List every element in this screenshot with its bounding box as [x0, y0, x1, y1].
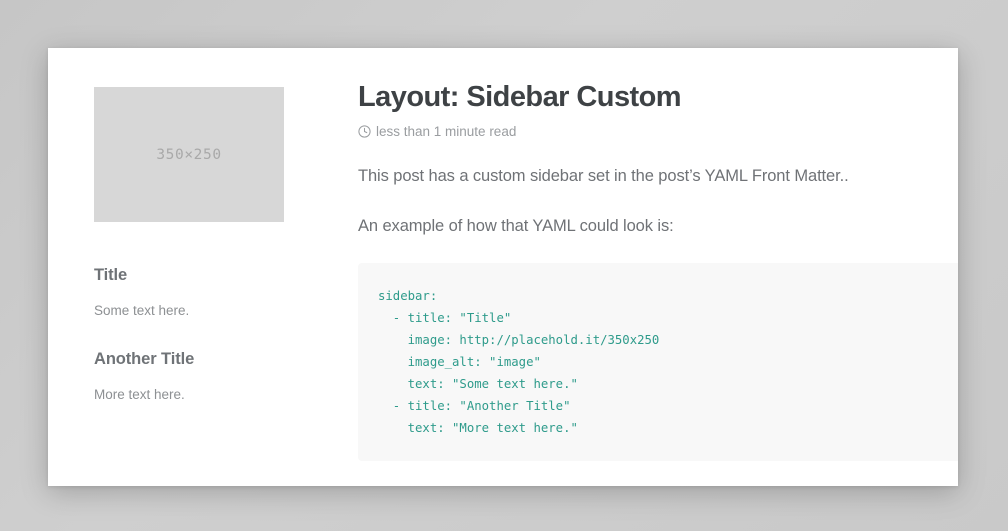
clock-icon [358, 125, 371, 138]
card-inner-layout: 350×250 Title Some text here. Another Ti… [48, 48, 958, 486]
sidebar-section-title: Title Some text here. [94, 266, 358, 321]
yaml-code-block: sidebar: - title: "Title" image: http://… [358, 263, 958, 461]
sidebar-section-another-title: Another Title More text here. [94, 350, 358, 405]
intro-paragraph: This post has a custom sidebar set in th… [358, 164, 958, 189]
yaml-code-text[interactable]: sidebar: - title: "Title" image: http://… [378, 285, 958, 439]
sidebar-section-heading: Another Title [94, 350, 358, 369]
example-lead-paragraph: An example of how that YAML could look i… [358, 214, 958, 239]
post-content: Layout: Sidebar Custom less than 1 minut… [358, 48, 958, 486]
content-card: 350×250 Title Some text here. Another Ti… [48, 48, 958, 486]
read-time-meta: less than 1 minute read [358, 124, 958, 139]
sidebar-section-heading: Title [94, 266, 358, 285]
read-time-label: less than 1 minute read [376, 124, 516, 139]
sidebar-section-text: Some text here. [94, 301, 358, 321]
custom-sidebar: 350×250 Title Some text here. Another Ti… [48, 48, 358, 486]
placeholder-image-label: 350×250 [156, 147, 221, 163]
sidebar-placeholder-image: 350×250 [94, 87, 284, 222]
page-title: Layout: Sidebar Custom [358, 81, 958, 113]
sidebar-section-text: More text here. [94, 385, 358, 405]
